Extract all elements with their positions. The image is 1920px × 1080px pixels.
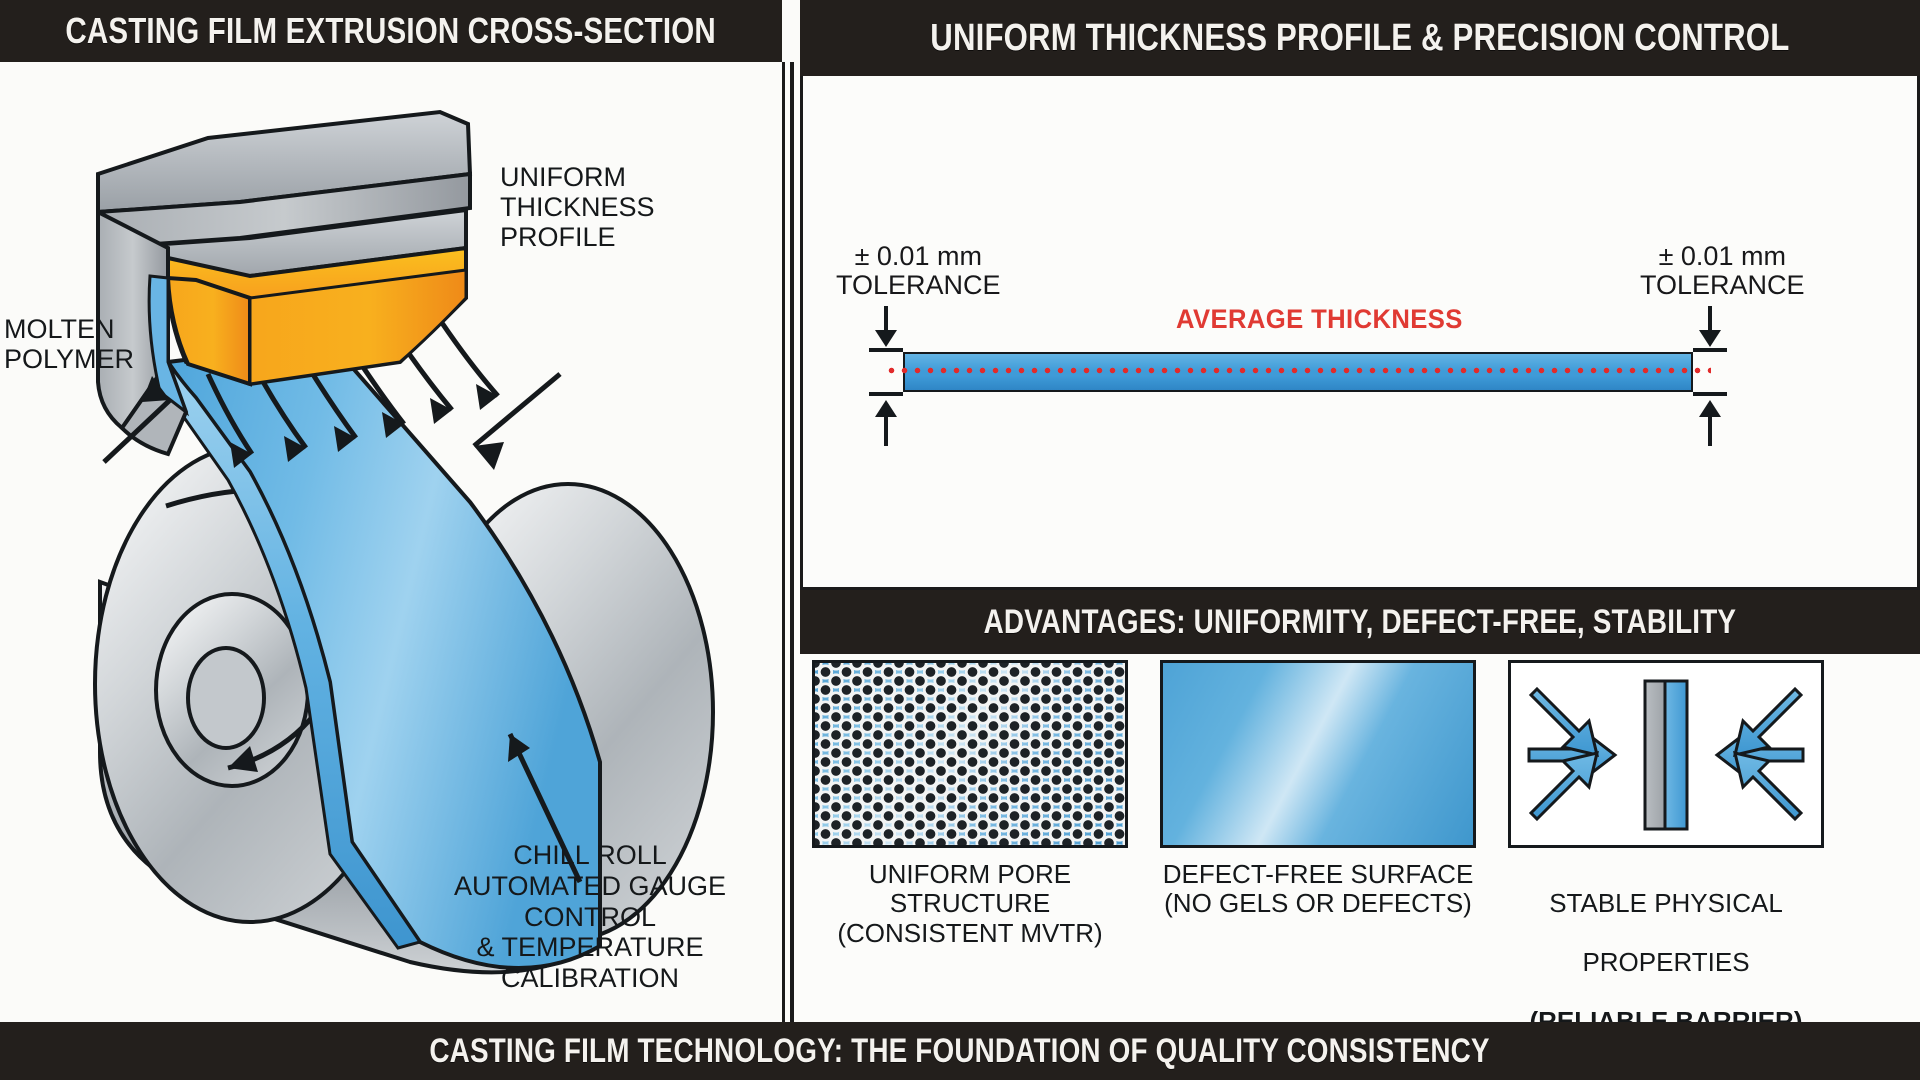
tolerance-arrow-right-up-shaft bbox=[1708, 414, 1712, 446]
tolerance-arrow-left-down-head bbox=[875, 330, 897, 347]
advantage-card-uniform-pore: UNIFORM PORE STRUCTURE (CONSISTENT MVTR) bbox=[812, 660, 1128, 948]
tolerance-tick-left-bottom bbox=[869, 392, 903, 396]
advantage-caption-defect-free: DEFECT-FREE SURFACE (NO GELS OR DEFECTS) bbox=[1160, 860, 1476, 919]
tolerance-tick-left-top bbox=[869, 348, 903, 352]
tolerance-left-caption: TOLERANCE bbox=[836, 271, 1001, 300]
right-panel-header-text: UNIFORM THICKNESS PROFILE & PRECISION CO… bbox=[930, 17, 1789, 60]
pore-dot-grid-row-b bbox=[815, 663, 1125, 845]
right-panel-header: UNIFORM THICKNESS PROFILE & PRECISION CO… bbox=[800, 0, 1920, 76]
advantage-caption-uniform-pore: UNIFORM PORE STRUCTURE (CONSISTENT MVTR) bbox=[812, 860, 1128, 948]
tolerance-tick-right-top bbox=[1693, 348, 1727, 352]
footer-banner: CASTING FILM TECHNOLOGY: THE FOUNDATION … bbox=[0, 1022, 1920, 1080]
tolerance-right-value: ± 0.01 mm bbox=[1640, 242, 1805, 271]
tolerance-arrow-left-up-shaft bbox=[884, 414, 888, 446]
tolerance-label-left: ± 0.01 mm TOLERANCE bbox=[836, 242, 1001, 300]
average-thickness-centerline bbox=[885, 367, 1711, 374]
panel-divider bbox=[790, 62, 794, 1022]
extrusion-cross-section-panel: UNIFORM THICKNESS PROFILE MOLTEN POLYMER… bbox=[0, 62, 785, 1022]
tolerance-right-caption: TOLERANCE bbox=[1640, 271, 1805, 300]
tolerance-left-value: ± 0.01 mm bbox=[836, 242, 1001, 271]
advantages-header: ADVANTAGES: UNIFORMITY, DEFECT-FREE, STA… bbox=[800, 590, 1920, 654]
left-panel-header: CASTING FILM EXTRUSION CROSS-SECTION bbox=[0, 0, 782, 62]
uniform-thickness-leader bbox=[474, 374, 560, 470]
left-panel-header-text: CASTING FILM EXTRUSION CROSS-SECTION bbox=[66, 10, 716, 52]
advantage-caption-stable-properties: STABLE PHYSICAL PROPERTIES (RELIABLE BAR… bbox=[1508, 860, 1824, 1036]
footer-text: CASTING FILM TECHNOLOGY: THE FOUNDATION … bbox=[430, 1032, 1490, 1071]
uniform-pore-structure-art bbox=[812, 660, 1128, 848]
stable-properties-art bbox=[1508, 660, 1824, 848]
advantage-card-stable-properties: STABLE PHYSICAL PROPERTIES (RELIABLE BAR… bbox=[1508, 660, 1824, 1036]
tolerance-label-right: ± 0.01 mm TOLERANCE bbox=[1640, 242, 1805, 300]
infographic-root: CASTING FILM EXTRUSION CROSS-SECTION UNI… bbox=[0, 0, 1920, 1080]
average-thickness-label: AVERAGE THICKNESS bbox=[1176, 304, 1463, 335]
advantages-header-text: ADVANTAGES: UNIFORMITY, DEFECT-FREE, STA… bbox=[984, 603, 1737, 642]
barrier-compression-diagram bbox=[1511, 663, 1821, 845]
stable-caption-line2: PROPERTIES bbox=[1582, 947, 1749, 977]
stable-caption-line1: STABLE PHYSICAL bbox=[1549, 888, 1783, 918]
tolerance-tick-right-bottom bbox=[1693, 392, 1727, 396]
label-uniform-thickness-profile: UNIFORM THICKNESS PROFILE bbox=[500, 162, 655, 253]
defect-free-surface-art bbox=[1160, 660, 1476, 848]
advantage-card-defect-free: DEFECT-FREE SURFACE (NO GELS OR DEFECTS) bbox=[1160, 660, 1476, 919]
tolerance-arrow-right-down-head bbox=[1699, 330, 1721, 347]
label-chill-roll: CHILL ROLL AUTOMATED GAUGE CONTROL & TEM… bbox=[402, 840, 778, 994]
label-molten-polymer: MOLTEN POLYMER bbox=[4, 314, 134, 374]
